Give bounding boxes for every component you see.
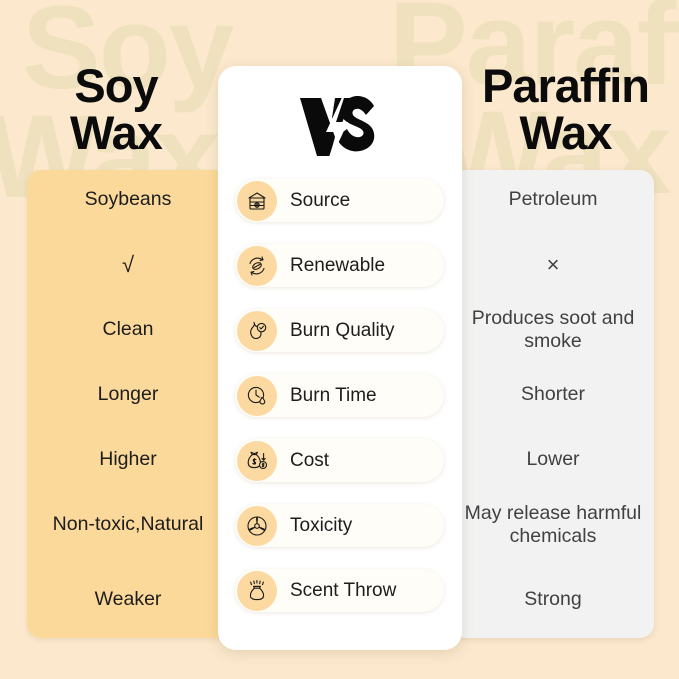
soy-value-toxicity: Non-toxic,Natural <box>27 513 229 536</box>
title-paraffin-wax: Paraffin Wax <box>452 62 679 156</box>
feature-row-source[interactable]: Source <box>235 179 444 222</box>
paraffin-value-source: Petroleum <box>452 188 654 211</box>
feature-label-scent-throw: Scent Throw <box>290 580 396 602</box>
feature-row-burn-quality[interactable]: Burn Quality <box>235 309 444 352</box>
feature-row-toxicity[interactable]: Toxicity <box>235 504 444 547</box>
soy-value-scent-throw: Weaker <box>27 588 229 611</box>
soy-value-burn-quality: Clean <box>27 318 229 341</box>
scent-sachet-icon <box>237 571 277 611</box>
soy-value-cost: Higher <box>27 448 229 471</box>
feature-row-cost[interactable]: Cost <box>235 439 444 482</box>
feature-row-renewable[interactable]: Renewable <box>235 244 444 287</box>
title-soy-line1: Soy <box>74 59 157 112</box>
soy-value-source: Soybeans <box>27 188 229 211</box>
feature-label-burn-quality: Burn Quality <box>290 320 395 342</box>
soy-value-burn-time: Longer <box>27 383 229 406</box>
paraffin-value-cost: Lower <box>452 448 654 471</box>
title-paraffin-line1: Paraffin <box>482 59 649 112</box>
feature-label-renewable: Renewable <box>290 255 385 277</box>
paraffin-value-burn-quality: Produces soot and smoke <box>452 307 654 353</box>
title-soy-line2: Wax <box>0 109 232 156</box>
flame-check-icon <box>237 311 277 351</box>
paraffin-value-renewable: × <box>452 252 654 278</box>
comparison-feature-card: Source Renewable Burn Quality <box>218 66 462 650</box>
feature-row-burn-time[interactable]: Burn Time <box>235 374 444 417</box>
feature-label-toxicity: Toxicity <box>290 515 352 537</box>
paraffin-value-burn-time: Shorter <box>452 383 654 406</box>
title-paraffin-line2: Wax <box>452 109 679 156</box>
feature-row-scent-throw[interactable]: Scent Throw <box>235 569 444 612</box>
money-bag-icon <box>237 441 277 481</box>
biohazard-icon <box>237 506 277 546</box>
vs-logo <box>218 80 462 176</box>
feature-label-burn-time: Burn Time <box>290 385 377 407</box>
beehive-icon <box>237 181 277 221</box>
feature-label-source: Source <box>290 190 350 212</box>
paraffin-value-toxicity: May release harmful chemicals <box>452 502 654 548</box>
paraffin-wax-values-panel: Petroleum × Produces soot and smoke Shor… <box>452 170 654 638</box>
soy-wax-values-panel: Soybeans √ Clean Longer Higher Non-toxic… <box>27 170 229 638</box>
recycle-leaf-icon <box>237 246 277 286</box>
title-soy-wax: Soy Wax <box>0 62 232 156</box>
soy-value-renewable: √ <box>27 252 229 278</box>
paraffin-value-scent-throw: Strong <box>452 588 654 611</box>
clock-flame-icon <box>237 376 277 416</box>
feature-label-cost: Cost <box>290 450 329 472</box>
